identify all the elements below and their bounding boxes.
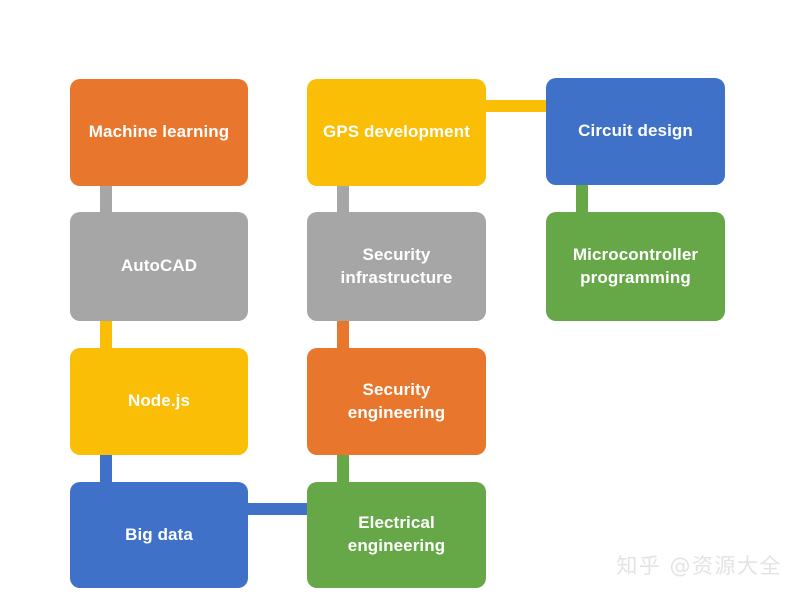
diagram-canvas: Machine learningAutoCADNode.jsBig dataGP… (0, 0, 800, 598)
node-big-data[interactable]: Big data (70, 482, 248, 588)
node-label-security-infrastructure: Security infrastructure (341, 244, 453, 290)
watermark: 知乎 @资源大全 (616, 550, 782, 580)
node-security-engineering[interactable]: Security engineering (307, 348, 486, 455)
node-label-big-data: Big data (125, 524, 193, 547)
node-label-microcontroller-programming: Microcontroller programming (573, 244, 698, 290)
node-electrical-engineering[interactable]: Electrical engineering (307, 482, 486, 588)
node-label-electrical-engineering: Electrical engineering (348, 512, 445, 558)
node-microcontroller-programming[interactable]: Microcontroller programming (546, 212, 725, 321)
node-label-autocad: AutoCAD (121, 255, 197, 278)
node-label-circuit-design: Circuit design (578, 120, 693, 143)
node-machine-learning[interactable]: Machine learning (70, 79, 248, 186)
node-security-infrastructure[interactable]: Security infrastructure (307, 212, 486, 321)
node-autocad[interactable]: AutoCAD (70, 212, 248, 321)
node-gps-development[interactable]: GPS development (307, 79, 486, 186)
node-nodejs[interactable]: Node.js (70, 348, 248, 455)
node-label-gps-development: GPS development (323, 121, 470, 144)
node-label-security-engineering: Security engineering (348, 379, 445, 425)
node-label-nodejs: Node.js (128, 390, 190, 413)
node-circuit-design[interactable]: Circuit design (546, 78, 725, 185)
node-label-machine-learning: Machine learning (89, 121, 229, 144)
